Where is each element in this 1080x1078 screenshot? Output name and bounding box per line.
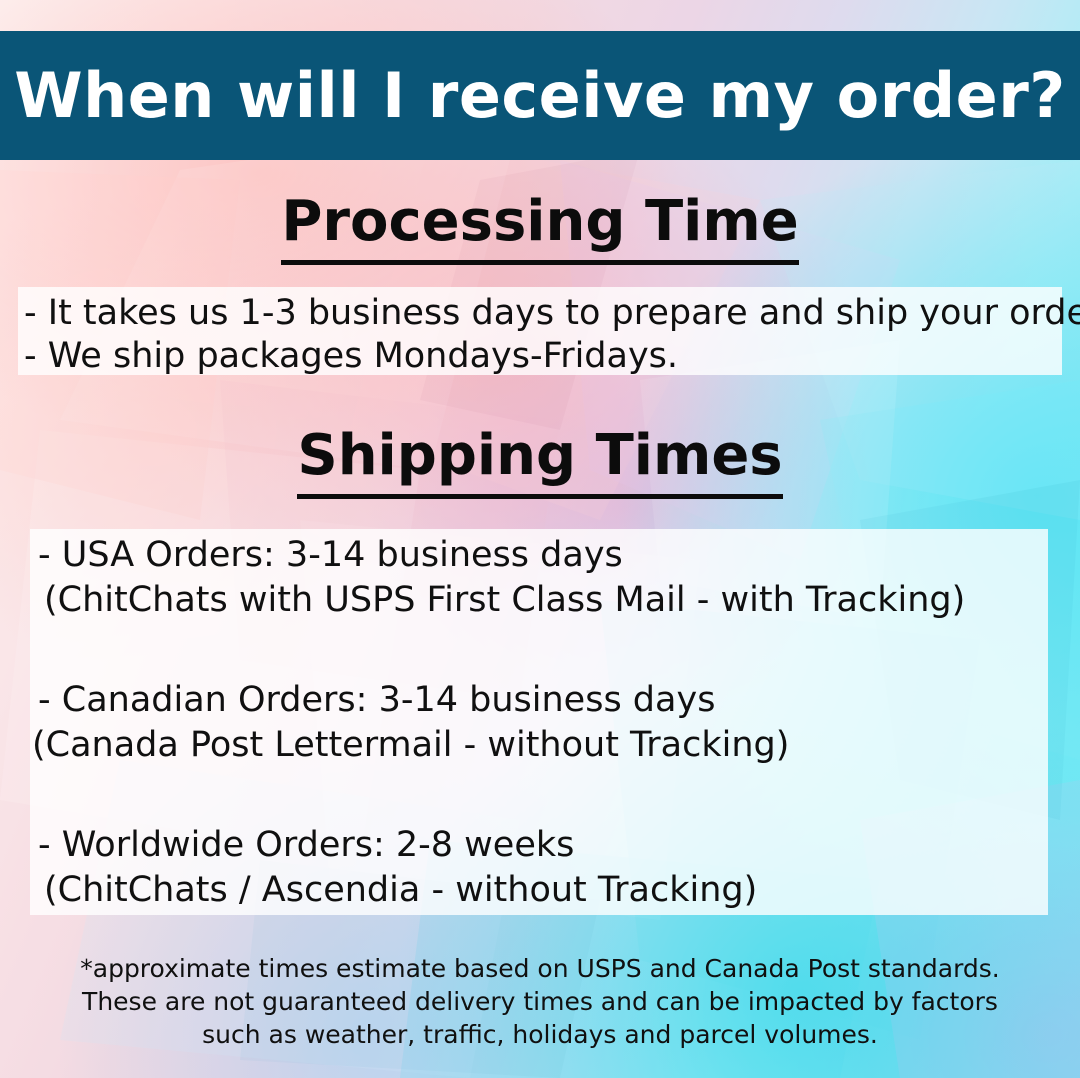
- shipping-group-worldwide-detail: (ChitChats / Ascendia - without Tracking…: [44, 868, 757, 913]
- section-heading-shipping-times-label: Shipping Times: [297, 423, 782, 499]
- section-heading-shipping-times: Shipping Times: [0, 428, 1080, 484]
- shipping-group-usa-headline: - USA Orders: 3-14 business days: [38, 533, 623, 578]
- section-heading-processing-time: Processing Time: [0, 194, 1080, 250]
- footnote-line-2: These are not guaranteed delivery times …: [0, 985, 1080, 1018]
- header-banner: When will I receive my order?: [0, 31, 1080, 160]
- processing-time-line-2: - We ship packages Mondays-Fridays.: [24, 334, 678, 379]
- processing-time-line-1: - It takes us 1-3 business days to prepa…: [24, 291, 1080, 336]
- shipping-group-canada-headline: - Canadian Orders: 3-14 business days: [38, 678, 715, 723]
- footnote-line-1: *approximate times estimate based on USP…: [0, 952, 1080, 985]
- shipping-group-worldwide-headline: - Worldwide Orders: 2-8 weeks: [38, 823, 574, 868]
- page-title: When will I receive my order?: [14, 65, 1066, 127]
- shipping-group-usa-detail: (ChitChats with USPS First Class Mail - …: [44, 578, 965, 623]
- footnote-line-3: such as weather, traffic, holidays and p…: [0, 1018, 1080, 1051]
- shipping-info-poster: When will I receive my order? Processing…: [0, 0, 1080, 1078]
- shipping-group-canada-detail: (Canada Post Lettermail - without Tracki…: [32, 723, 789, 768]
- footnote-disclaimer: *approximate times estimate based on USP…: [0, 952, 1080, 1051]
- section-heading-processing-time-label: Processing Time: [281, 189, 798, 265]
